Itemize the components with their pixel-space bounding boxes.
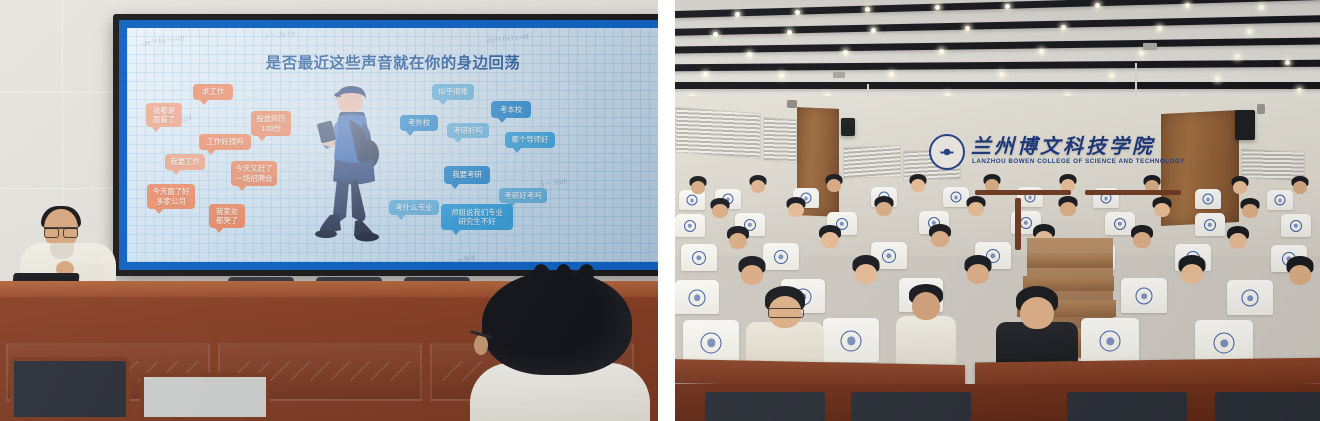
foreground-chair — [10, 357, 130, 421]
screen-bezel: ax²+bx+c=0 y = 3x+b ax²+bx+c=0 ∫ f(x)dx … — [119, 20, 658, 270]
audience-person-foreground — [745, 286, 825, 372]
projector-screen: ax²+bx+c=0 y = 3x+b ax²+bx+c=0 ∫ f(x)dx … — [113, 14, 658, 276]
seat-cushion — [705, 392, 825, 421]
audience-person-foreground — [995, 286, 1079, 372]
audience-person — [783, 197, 809, 223]
audience-person — [1237, 198, 1263, 224]
audience-person — [723, 226, 753, 258]
foreground-chair — [140, 373, 270, 421]
audience-person — [925, 224, 955, 256]
ceiling-slat — [675, 82, 1320, 89]
aisle-rail — [975, 190, 1071, 195]
eyeglasses-icon — [44, 227, 78, 236]
seat-cushion — [1215, 392, 1320, 421]
school-crest-icon — [929, 134, 965, 170]
school-name-english: LANZHOU BOWEN COLLEGE OF SCIENCE AND TEC… — [972, 158, 1185, 165]
wall-speaker — [1235, 110, 1255, 140]
audience-person — [815, 225, 845, 257]
slide-content: ax²+bx+c=0 y = 3x+b ax²+bx+c=0 ∫ f(x)dx … — [127, 28, 658, 262]
audience-person — [907, 174, 929, 196]
audience-person — [1149, 197, 1175, 223]
audience-person — [1127, 225, 1157, 257]
audience-person — [895, 284, 957, 364]
audience-person — [959, 255, 997, 299]
audience-person — [823, 174, 845, 196]
acoustic-grille-panel — [843, 145, 901, 179]
audience-person — [1289, 176, 1311, 198]
ceiling-vent — [833, 72, 845, 78]
eyeglasses-icon — [768, 308, 804, 318]
audience-person — [847, 255, 885, 299]
slide-glare — [127, 28, 658, 262]
ceiling-vent — [1143, 43, 1157, 50]
seminar-room-photo: ax²+bx+c=0 y = 3x+b ax²+bx+c=0 ∫ f(x)dx … — [0, 0, 658, 421]
screenshot-root: ax²+bx+c=0 y = 3x+b ax²+bx+c=0 ∫ f(x)dx … — [0, 0, 1320, 421]
audience-person — [747, 175, 769, 197]
aisle-rail — [1015, 198, 1021, 250]
school-banner: 兰州博文科技学院 LANZHOU BOWEN COLLEGE OF SCIENC… — [927, 120, 1195, 182]
audience-person — [871, 196, 897, 222]
audience-person — [1055, 196, 1081, 222]
ceiling-slat — [675, 59, 1320, 72]
school-name-chinese: 兰州博文科技学院 — [971, 130, 1155, 159]
acoustic-grille-panel — [675, 107, 761, 160]
audience-person — [1223, 226, 1253, 258]
audience-person — [687, 176, 709, 198]
foreground-student — [470, 271, 650, 421]
aisle-rail — [1085, 190, 1181, 195]
ear — [474, 335, 488, 355]
audience-person — [963, 196, 989, 222]
audience-person — [707, 198, 733, 224]
wall-speaker — [841, 118, 855, 136]
audience-person — [1281, 256, 1319, 300]
audience-person — [1173, 255, 1211, 299]
photo-divider — [658, 0, 675, 421]
seat-cushion — [1067, 392, 1187, 421]
wall-mount-bracket — [787, 100, 797, 108]
collar — [50, 243, 74, 259]
lecture-hall-photo: 兰州博文科技学院 LANZHOU BOWEN COLLEGE OF SCIENC… — [675, 0, 1320, 421]
acoustic-grille-panel — [763, 117, 797, 163]
seat-cushion — [851, 392, 971, 421]
ceiling-slat — [675, 14, 1320, 38]
audience-person — [1229, 176, 1251, 198]
ceiling-slat — [675, 36, 1320, 54]
wall-mount-bracket — [1257, 104, 1265, 114]
